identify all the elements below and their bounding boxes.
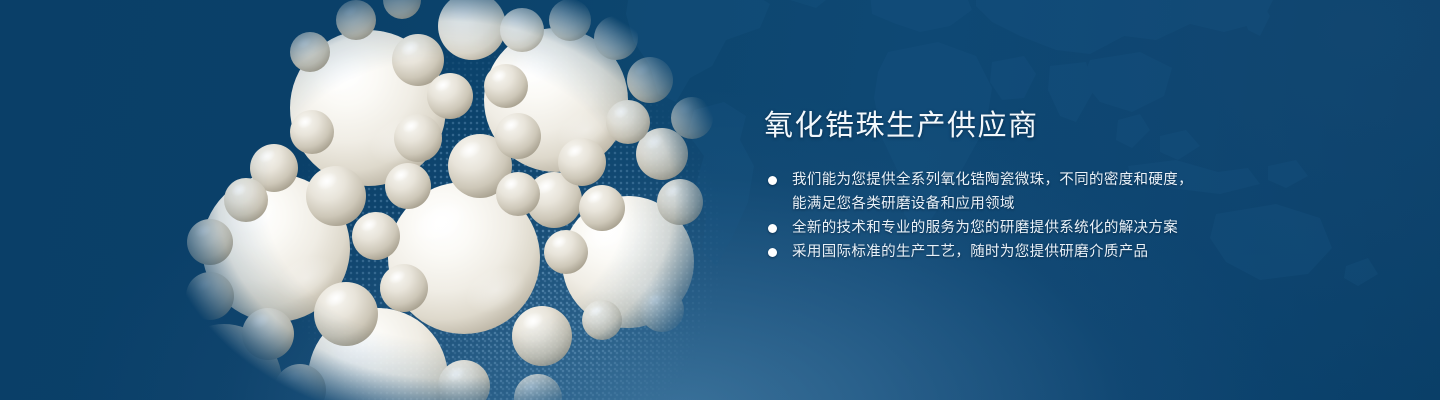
banner-copy: 氧化锆珠生产供应商 我们能为您提供全系列氧化锆陶瓷微珠，不同的密度和硬度， 能满… [764, 108, 1234, 264]
feature-item-1: 我们能为您提供全系列氧化锆陶瓷微珠，不同的密度和硬度， 能满足您各类研磨设备和应… [764, 168, 1234, 216]
feature-item-3: 采用国际标准的生产工艺，随时为您提供研磨介质产品 [764, 240, 1234, 264]
bullet-dot-icon [768, 224, 777, 233]
bullet-dot-icon [768, 176, 777, 185]
hero-banner: 氧化锆珠生产供应商 我们能为您提供全系列氧化锆陶瓷微珠，不同的密度和硬度， 能满… [0, 0, 1440, 400]
bullet-dot-icon [768, 248, 777, 257]
feature-list: 我们能为您提供全系列氧化锆陶瓷微珠，不同的密度和硬度， 能满足您各类研磨设备和应… [764, 168, 1234, 264]
feature-item-2: 全新的技术和专业的服务为您的研磨提供系统化的解决方案 [764, 216, 1234, 240]
feature-item-1-line-2: 能满足您各类研磨设备和应用领域 [792, 192, 1234, 216]
feature-item-1-line-1: 我们能为您提供全系列氧化锆陶瓷微珠，不同的密度和硬度， [792, 168, 1234, 192]
zirconia-beads-image [150, 0, 720, 400]
banner-headline: 氧化锆珠生产供应商 [764, 108, 1234, 144]
feature-item-2-line-1: 全新的技术和专业的服务为您的研磨提供系统化的解决方案 [792, 216, 1234, 240]
feature-item-3-line-1: 采用国际标准的生产工艺，随时为您提供研磨介质产品 [792, 240, 1234, 264]
